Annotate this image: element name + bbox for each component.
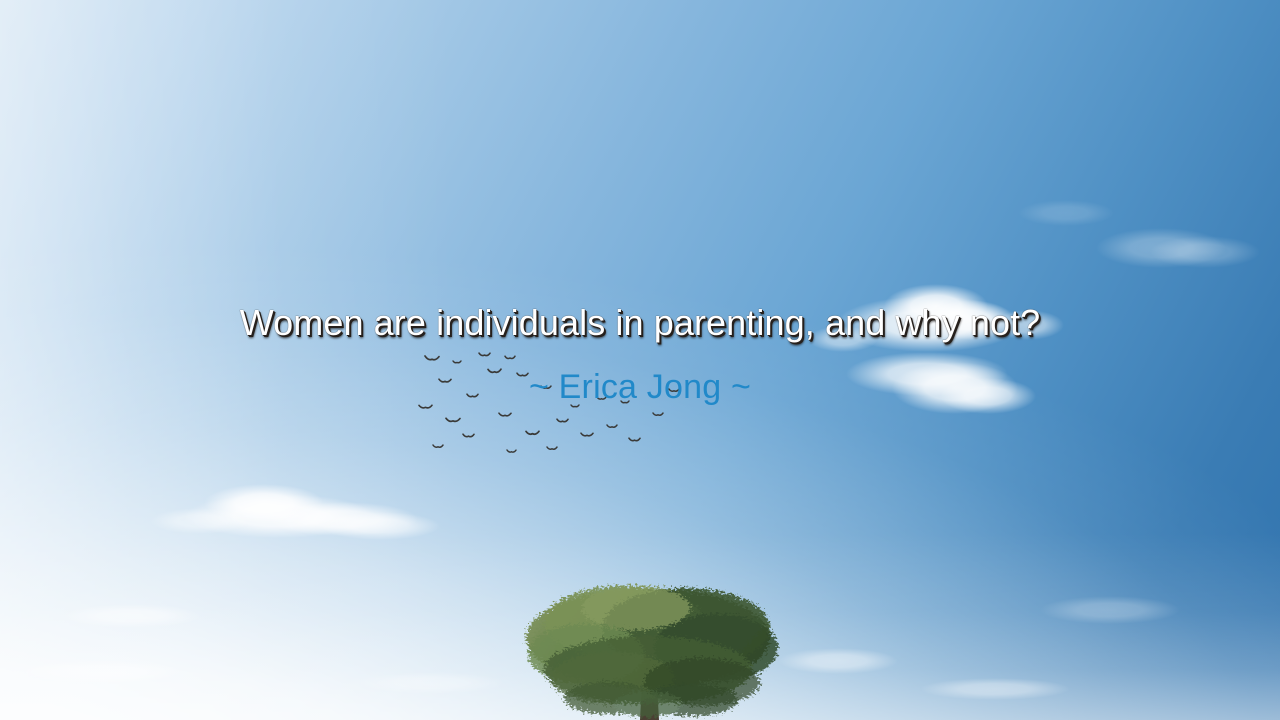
- quote-image-canvas: Women are individuals in parenting, and …: [0, 0, 1280, 720]
- sky-haze-horizon: [0, 0, 1280, 720]
